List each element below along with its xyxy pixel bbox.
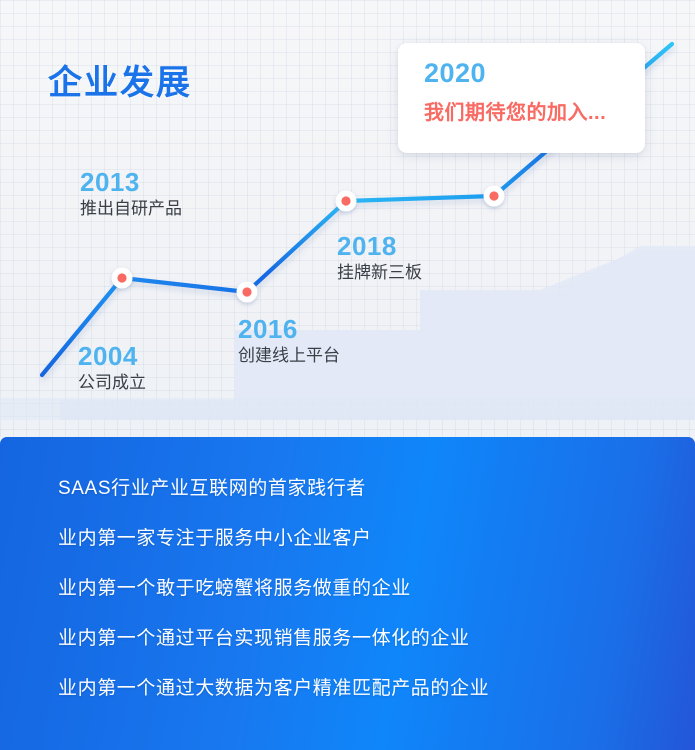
claims-panel: SAAS行业产业互联网的首家践行者 业内第一家专注于服务中小企业客户 业内第一个… — [0, 437, 695, 750]
claim-item: SAAS行业产业互联网的首家践行者 — [58, 479, 695, 498]
infographic-page: 企业发展 2004 公司成立 2013 推出自研产品 2016 创建线上平台 2… — [0, 0, 695, 750]
milestone-year-2013: 2013 — [80, 168, 182, 196]
milestone-label-2013: 推出自研产品 — [80, 198, 182, 221]
claim-item: 业内第一个通过大数据为客户精准匹配产品的企业 — [58, 679, 695, 698]
page-title: 企业发展 — [48, 55, 192, 104]
callout-message: 我们期待您的加入... — [424, 96, 645, 125]
callout-year: 2020 — [424, 59, 645, 89]
milestone-label-2004: 公司成立 — [78, 372, 146, 395]
marker-2020 — [484, 186, 505, 207]
marker-2016 — [237, 282, 258, 303]
milestone-2004: 2004 公司成立 — [78, 342, 146, 395]
callout-card-2020: 2020 我们期待您的加入... — [398, 43, 645, 153]
milestone-year-2018: 2018 — [337, 232, 422, 260]
timeline-chart-panel: 企业发展 2004 公司成立 2013 推出自研产品 2016 创建线上平台 2… — [0, 0, 695, 437]
milestone-year-2016: 2016 — [238, 315, 340, 343]
claim-item: 业内第一个敢于吃螃蟹将服务做重的企业 — [58, 579, 695, 598]
claim-item: 业内第一家专注于服务中小企业客户 — [58, 529, 695, 548]
claim-item: 业内第一个通过平台实现销售服务一体化的企业 — [58, 629, 695, 648]
milestone-2013: 2013 推出自研产品 — [80, 168, 182, 221]
milestone-year-2004: 2004 — [78, 342, 146, 370]
milestone-2016: 2016 创建线上平台 — [238, 315, 340, 368]
milestone-label-2016: 创建线上平台 — [238, 345, 340, 368]
marker-2018 — [336, 191, 357, 212]
milestone-label-2018: 挂牌新三板 — [337, 262, 422, 285]
marker-2004 — [112, 268, 133, 289]
milestone-2018: 2018 挂牌新三板 — [337, 232, 422, 285]
baseline-band — [0, 398, 695, 420]
